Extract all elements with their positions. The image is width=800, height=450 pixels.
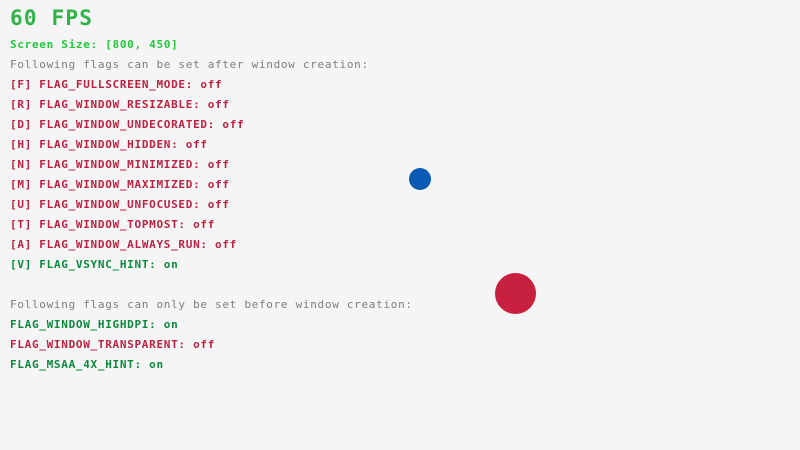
flag-row[interactable]: FLAG_MSAA_4X_HINT: on [10, 359, 164, 370]
flag-name: FLAG_WINDOW_RESIZABLE: [39, 98, 200, 111]
flag-row[interactable]: [F] FLAG_FULLSCREEN_MODE: off [10, 79, 222, 90]
flag-row[interactable]: [U] FLAG_WINDOW_UNFOCUSED: off [10, 199, 230, 210]
flag-row[interactable]: [M] FLAG_WINDOW_MAXIMIZED: off [10, 179, 230, 190]
flag-state-value: off [200, 158, 229, 171]
flag-state-value: on [142, 358, 164, 371]
flag-row[interactable]: [D] FLAG_WINDOW_UNDECORATED: off [10, 119, 244, 130]
flag-name: FLAG_WINDOW_HIDDEN: [39, 138, 178, 151]
flag-state-value: off [186, 218, 215, 231]
flag-shortcut-key: [F] [10, 78, 39, 91]
flag-state-value: off [193, 78, 222, 91]
flag-shortcut-key: [N] [10, 158, 39, 171]
flag-name: FLAG_FULLSCREEN_MODE: [39, 78, 193, 91]
flag-state-value: on [156, 258, 178, 271]
flag-row[interactable]: FLAG_WINDOW_TRANSPARENT: off [10, 339, 215, 350]
flag-shortcut-key: [A] [10, 238, 39, 251]
flag-shortcut-key: [T] [10, 218, 39, 231]
section-heading-before-creation: Following flags can only be set before w… [10, 299, 413, 310]
flag-row[interactable]: [V] FLAG_VSYNC_HINT: on [10, 259, 178, 270]
flag-shortcut-key: [H] [10, 138, 39, 151]
flag-state-value: off [200, 178, 229, 191]
flag-name: FLAG_WINDOW_UNDECORATED: [39, 118, 215, 131]
flag-row[interactable]: FLAG_WINDOW_HIGHDPI: on [10, 319, 178, 330]
flag-shortcut-key: [R] [10, 98, 39, 111]
screen-size-label: Screen Size: [800, 450] [10, 39, 178, 50]
flag-state-value: off [208, 238, 237, 251]
flag-name: FLAG_WINDOW_MINIMIZED: [39, 158, 200, 171]
flag-row[interactable]: [T] FLAG_WINDOW_TOPMOST: off [10, 219, 215, 230]
flag-name: FLAG_WINDOW_HIGHDPI: [10, 318, 156, 331]
raylib-window-canvas: 60 FPS Screen Size: [800, 450] Following… [0, 0, 800, 450]
flag-shortcut-key: [D] [10, 118, 39, 131]
flag-name: FLAG_WINDOW_MAXIMIZED: [39, 178, 200, 191]
flag-row[interactable]: [H] FLAG_WINDOW_HIDDEN: off [10, 139, 208, 150]
red-ball [495, 273, 536, 314]
flag-state-value: off [215, 118, 244, 131]
flag-state-value: on [156, 318, 178, 331]
flag-name: FLAG_WINDOW_TOPMOST: [39, 218, 185, 231]
flag-name: FLAG_WINDOW_UNFOCUSED: [39, 198, 200, 211]
fps-counter: 60 FPS [10, 8, 93, 29]
flag-state-value: off [200, 98, 229, 111]
blue-ball [409, 168, 431, 190]
flag-state-value: off [178, 138, 207, 151]
flag-row[interactable]: [A] FLAG_WINDOW_ALWAYS_RUN: off [10, 239, 237, 250]
flag-row[interactable]: [R] FLAG_WINDOW_RESIZABLE: off [10, 99, 230, 110]
flag-name: FLAG_VSYNC_HINT: [39, 258, 156, 271]
flag-shortcut-key: [U] [10, 198, 39, 211]
flag-state-value: off [200, 198, 229, 211]
flag-row[interactable]: [N] FLAG_WINDOW_MINIMIZED: off [10, 159, 230, 170]
flag-name: FLAG_MSAA_4X_HINT: [10, 358, 142, 371]
flag-name: FLAG_WINDOW_ALWAYS_RUN: [39, 238, 207, 251]
flag-state-value: off [186, 338, 215, 351]
flag-shortcut-key: [M] [10, 178, 39, 191]
flag-shortcut-key: [V] [10, 258, 39, 271]
section-heading-after-creation: Following flags can be set after window … [10, 59, 369, 70]
flag-name: FLAG_WINDOW_TRANSPARENT: [10, 338, 186, 351]
